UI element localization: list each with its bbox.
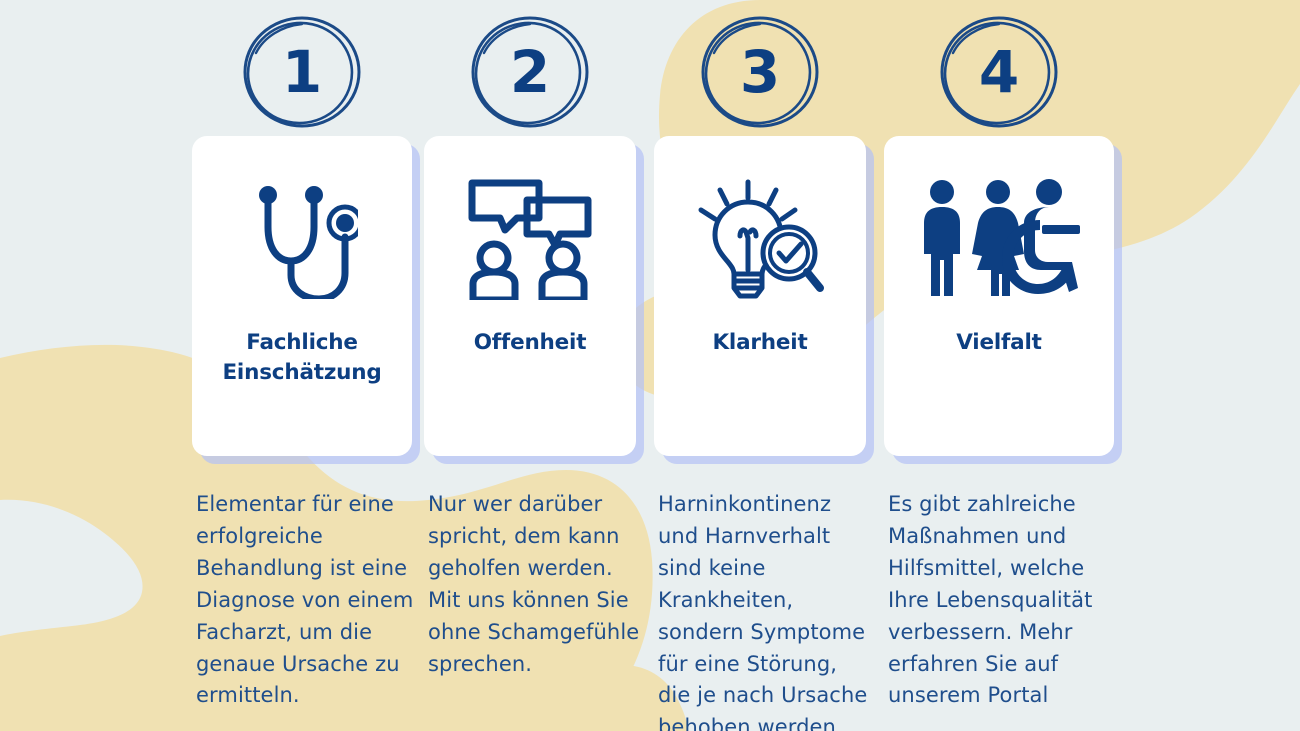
step-number-2: 2 [424,14,636,130]
step-description-2: Nur wer darüber spricht, dem kann geholf… [428,489,650,680]
card-panel-4[interactable]: Vielfalt [884,136,1114,456]
steps-row: 1 Fachliche Einschätzung [0,0,1300,731]
card-title-4: Vielfalt [892,328,1106,358]
step-description-1: Elementar für eine erfolgreiche Behandlu… [196,489,418,712]
step-number-1: 1 [192,14,412,130]
card-panel-1[interactable]: Fachliche Einschätzung [192,136,412,456]
card-title-2: Offenheit [432,328,628,358]
stethoscope-icon [192,164,412,314]
infographic-canvas: 1 Fachliche Einschätzung [0,0,1300,731]
card-title-3: Klarheit [662,328,858,358]
card-panel-2[interactable]: Offenheit [424,136,636,456]
step-description-3: Harninkontinenz und Harnverhalt sind kei… [658,489,874,731]
card-panel-3[interactable]: Klarheit [654,136,866,456]
people-speech-bubbles-icon [424,164,636,314]
card-title-1: Fachliche Einschätzung [200,328,404,387]
man-woman-wheelchair-icon [884,164,1114,314]
step-description-4: Es gibt zahlreiche Maßnahmen und Hilfsmi… [888,489,1102,712]
lightbulb-magnifier-check-icon [654,164,866,314]
step-number-4: 4 [884,14,1114,130]
step-number-3: 3 [654,14,866,130]
